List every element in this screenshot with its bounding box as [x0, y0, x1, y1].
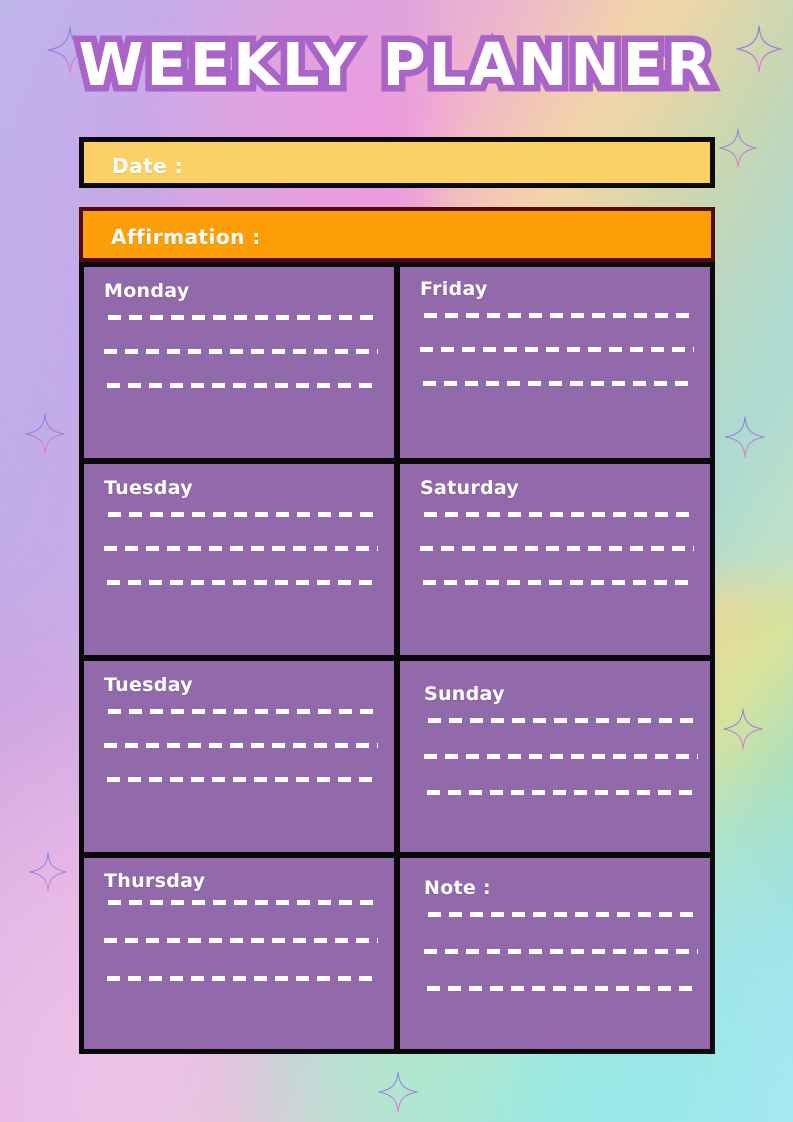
date-label: Date : — [84, 142, 710, 178]
write-lines — [420, 313, 694, 386]
day-label-saturday: Saturday — [420, 477, 694, 499]
write-lines — [104, 512, 378, 585]
day-label-tuesday-2: Tuesday — [104, 674, 378, 696]
note-cell[interactable]: Note : — [400, 858, 710, 1049]
day-label-sunday: Sunday — [424, 683, 694, 705]
write-lines — [104, 709, 378, 782]
page-title-text: WEEKLY PLANNER — [0, 34, 793, 96]
affirmation-field[interactable]: Affirmation : — [79, 207, 715, 262]
write-line[interactable] — [424, 512, 696, 517]
day-cell-thursday[interactable]: Thursday — [84, 858, 394, 1049]
write-lines — [424, 718, 694, 795]
day-grid: Monday Friday Tuesday Satu — [79, 262, 715, 1054]
day-cell-tuesday[interactable]: Tuesday — [84, 464, 394, 655]
write-lines — [424, 912, 694, 991]
planner-page: WEEKLY PLANNER WEEKLY PLANNER Date : Aff… — [0, 0, 793, 1122]
write-line[interactable] — [423, 381, 695, 386]
write-line[interactable] — [104, 743, 378, 748]
write-line[interactable] — [108, 315, 380, 320]
day-cell-saturday[interactable]: Saturday — [400, 464, 710, 655]
write-line[interactable] — [427, 790, 699, 795]
day-cell-sunday[interactable]: Sunday — [400, 661, 710, 852]
write-line[interactable] — [427, 986, 699, 991]
write-line[interactable] — [104, 349, 378, 354]
write-line[interactable] — [420, 546, 694, 551]
day-label-friday: Friday — [420, 278, 694, 300]
write-line[interactable] — [104, 546, 378, 551]
write-line[interactable] — [107, 580, 379, 585]
write-line[interactable] — [424, 754, 698, 759]
write-line[interactable] — [108, 900, 380, 905]
write-line[interactable] — [423, 580, 695, 585]
write-lines — [420, 512, 694, 585]
day-cell-friday[interactable]: Friday — [400, 267, 710, 458]
write-line[interactable] — [107, 383, 379, 388]
write-lines — [104, 315, 378, 388]
date-field[interactable]: Date : — [79, 137, 715, 188]
day-label-monday: Monday — [104, 280, 378, 302]
write-line[interactable] — [420, 347, 694, 352]
affirmation-label: Affirmation : — [83, 211, 711, 249]
page-title: WEEKLY PLANNER WEEKLY PLANNER — [0, 34, 793, 96]
day-label-tuesday: Tuesday — [104, 477, 378, 499]
day-cell-tuesday-2[interactable]: Tuesday — [84, 661, 394, 852]
write-line[interactable] — [424, 949, 698, 954]
day-label-thursday: Thursday — [104, 870, 378, 892]
write-lines — [104, 900, 378, 981]
write-line[interactable] — [107, 976, 379, 981]
write-line[interactable] — [108, 512, 380, 517]
write-line[interactable] — [104, 938, 378, 943]
day-cell-monday[interactable]: Monday — [84, 267, 394, 458]
write-line[interactable] — [108, 709, 380, 714]
write-line[interactable] — [424, 313, 696, 318]
note-label: Note : — [424, 877, 694, 899]
write-line[interactable] — [428, 912, 700, 917]
write-line[interactable] — [428, 718, 700, 723]
write-line[interactable] — [107, 777, 379, 782]
